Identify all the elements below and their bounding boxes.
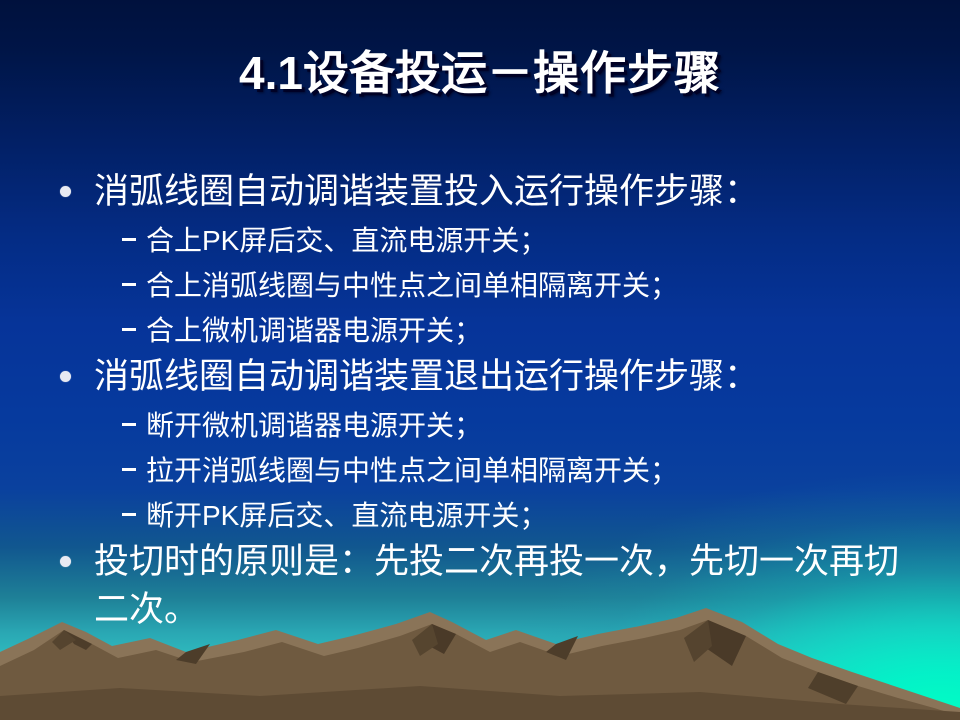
- bullet-level2-label: 断开PK屏后交、直流电源开关；: [146, 500, 547, 531]
- dash-icon: [122, 238, 136, 241]
- bullet-level2-label: 拉开消弧线圈与中性点之间单相隔离开关；: [146, 455, 678, 486]
- bullet-level1: 消弧线圈自动调谐装置投入运行操作步骤：: [48, 168, 928, 216]
- bullet-level1-label: 消弧线圈自动调谐装置投入运行操作步骤：: [94, 172, 759, 211]
- dash-icon: [122, 283, 136, 286]
- presentation-slide: 4.1设备投运－操作步骤 消弧线圈自动调谐装置投入运行操作步骤： 合上PK屏后交…: [0, 0, 960, 720]
- bullet-level2-label: 合上PK屏后交、直流电源开关；: [146, 225, 547, 256]
- dash-icon: [122, 513, 136, 516]
- bullet-level1-label: 投切时的原则是：先投二次再投一次，先切一次再切二次。: [94, 542, 899, 629]
- bullet-level2-label: 合上微机调谐器电源开关；: [146, 315, 482, 346]
- bullet-level2-label: 合上消弧线圈与中性点之间单相隔离开关；: [146, 270, 678, 301]
- slide-title-prefix: 4.1设备投运－: [239, 47, 533, 99]
- bullet-level1: 投切时的原则是：先投二次再投一次，先切一次再切二次。: [48, 538, 928, 634]
- bullet-level2: 断开PK屏后交、直流电源开关；: [48, 493, 928, 538]
- dash-icon: [122, 468, 136, 471]
- slide-title: 4.1设备投运－操作步骤: [0, 48, 960, 99]
- bullet-level2: 合上微机调谐器电源开关；: [48, 308, 928, 353]
- bullet-level1-label: 消弧线圈自动调谐装置退出运行操作步骤：: [94, 357, 759, 396]
- bullet-dot-icon: [60, 556, 71, 567]
- dash-icon: [122, 423, 136, 426]
- bullet-level2: 合上PK屏后交、直流电源开关；: [48, 218, 928, 263]
- slide-body: 消弧线圈自动调谐装置投入运行操作步骤： 合上PK屏后交、直流电源开关； 合上消弧…: [48, 168, 928, 636]
- bullet-level2: 断开微机调谐器电源开关；: [48, 403, 928, 448]
- bullet-level1: 消弧线圈自动调谐装置退出运行操作步骤：: [48, 353, 928, 401]
- bullet-level2-label: 断开微机调谐器电源开关；: [146, 410, 482, 441]
- bullet-level2: 拉开消弧线圈与中性点之间单相隔离开关；: [48, 448, 928, 493]
- slide-title-emphasis: 操作步骤: [533, 47, 721, 99]
- dash-icon: [122, 328, 136, 331]
- bullet-dot-icon: [60, 371, 71, 382]
- bullet-dot-icon: [60, 186, 71, 197]
- bullet-level2: 合上消弧线圈与中性点之间单相隔离开关；: [48, 263, 928, 308]
